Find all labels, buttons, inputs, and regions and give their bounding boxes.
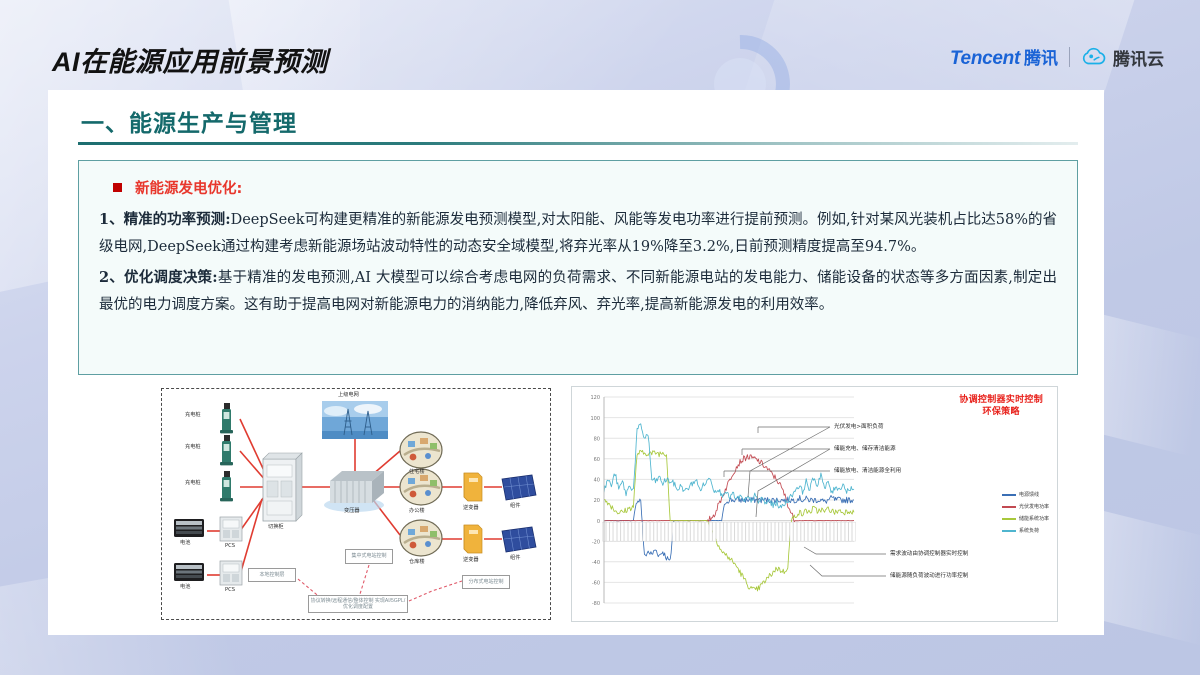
annotation-2: 储能充电、储存清洁能源: [834, 444, 896, 452]
paragraph-1: 1、精准的功率预测:DeepSeek可构建更精准的新能源发电预测模型,对太阳能、…: [99, 206, 1057, 262]
annotation-4: 需求波动由协调控制器实时控制: [890, 549, 968, 557]
upper-grid-photo: [322, 401, 388, 439]
battery-rack-group: [174, 519, 204, 581]
bullet-heading-label: 新能源发电优化:: [135, 177, 242, 198]
annotation-1: 光伏发电>面积负荷: [834, 422, 883, 430]
section-heading: 一、能源生产与管理: [81, 104, 297, 138]
building-map-group: [400, 432, 442, 556]
tencent-cloud-logo: 腾讯云: [1081, 45, 1164, 70]
content-card: 一、能源生产与管理 新能源发电优化: 1、精准的功率预测:DeepSeek可构建…: [48, 90, 1104, 635]
legend-swatch: [1002, 518, 1016, 520]
inverter-group: [464, 473, 482, 553]
svg-text:120: 120: [590, 395, 600, 401]
paragraph-2: 2、优化调度决策:基于精准的发电预测,AI 大模型可以综合考虑电网的负荷需求、不…: [99, 264, 1057, 320]
paragraph-2-lead: 优化调度决策:: [124, 269, 218, 286]
label-switchgear: 切换柜: [268, 523, 284, 530]
legend-label: 光伏发电功率: [1019, 503, 1049, 510]
label-inverter-1: 逆变器: [463, 504, 479, 511]
svg-text:0: 0: [597, 519, 600, 525]
legend-item: 电源馈线: [1002, 491, 1049, 498]
tencent-logo-en: Tencent: [950, 48, 1020, 70]
chart-legend: 电源馈线光伏发电功率储能系统功率系统负荷: [1002, 491, 1049, 539]
svg-text:-40: -40: [592, 560, 600, 566]
legend-label: 储能系统功率: [1019, 515, 1049, 522]
tencent-cloud-label: 腾讯云: [1113, 45, 1164, 70]
legend-label: 电源馈线: [1019, 491, 1039, 498]
tencent-logo: Tencent 腾讯: [950, 44, 1058, 70]
slide-root: AI在能源应用前景预测 Tencent 腾讯 腾讯云 一、能源生产与管理: [0, 0, 1200, 675]
paragraph-1-number: 1、: [99, 211, 124, 228]
svg-text:80: 80: [594, 436, 600, 442]
section-underline: [78, 142, 1078, 145]
chart-plot-area: 120100806040200-20-40-60-80: [572, 387, 1057, 621]
chart-title-line-2: 环保策略: [959, 405, 1043, 417]
label-battery-1: 电池: [180, 539, 190, 546]
cloud-icon: [1081, 47, 1107, 67]
label-pcs-1: PCS: [225, 543, 235, 549]
transformer-container: [324, 471, 384, 512]
box-protocol-conversion: 协议转换/远程通信/整体控制 实现AI/5GPL/优化调度配置: [308, 595, 408, 613]
box-centralized-control: 集中式电站控制: [345, 549, 393, 564]
highlight-textbox: 新能源发电优化: 1、精准的功率预测:DeepSeek可构建更精准的新能源发电预…: [78, 160, 1078, 375]
chart-title: 协调控制器实时控制 环保策略: [959, 393, 1043, 417]
tencent-logo-cn: 腾讯: [1024, 44, 1058, 69]
charging-pile-group: [220, 403, 233, 501]
chart-title-line-1: 协调控制器实时控制: [959, 393, 1043, 405]
svg-text:40: 40: [594, 478, 600, 484]
paragraph-1-lead: 精准的功率预测:: [124, 211, 231, 228]
svg-text:-80: -80: [592, 601, 600, 607]
label-pv-panel-1: 组件: [510, 502, 520, 509]
legend-item: 储能系统功率: [1002, 515, 1049, 522]
svg-text:60: 60: [594, 457, 600, 463]
bullet-heading-row: 新能源发电优化:: [113, 177, 1057, 198]
legend-swatch: [1002, 530, 1016, 532]
brand-logo-group: Tencent 腾讯 腾讯云: [950, 44, 1164, 70]
label-charging-pile-2: 充电桩: [185, 443, 201, 450]
box-distributed-control: 分布式电站控制: [462, 575, 510, 589]
pv-panel-group: [502, 475, 536, 552]
legend-swatch: [1002, 494, 1016, 496]
legend-swatch: [1002, 506, 1016, 508]
svg-text:-60: -60: [592, 581, 600, 587]
legend-item: 光伏发电功率: [1002, 503, 1049, 510]
pcs-cabinet-group: [220, 517, 242, 585]
svg-text:-20: -20: [592, 539, 600, 545]
label-inverter-2: 逆变器: [463, 556, 479, 563]
paragraph-1-body: DeepSeek可构建更精准的新能源发电预测模型,对太阳能、风能等发电功率进行提…: [99, 212, 1057, 255]
logo-divider: [1069, 47, 1070, 67]
legend-label: 系统负荷: [1019, 527, 1039, 534]
label-transformer: 变压器: [344, 507, 360, 514]
label-battery-2: 电池: [180, 583, 190, 590]
label-pv-panel-2: 组件: [510, 554, 520, 561]
label-office-building: 办公楼: [409, 507, 425, 514]
svg-text:100: 100: [590, 416, 600, 422]
annotation-3: 储能放电、清洁能源全利用: [834, 466, 901, 474]
label-warehouse-building: 仓库楼: [409, 558, 425, 565]
microgrid-topology-figure: 充电桩 充电桩 充电桩 电池 电池 PCS PCS 切换柜 上级电网 变压器 住…: [161, 388, 551, 620]
page-title: AI在能源应用前景预测: [52, 40, 328, 79]
label-upper-grid: 上级电网: [338, 391, 359, 398]
label-charging-pile-3: 充电桩: [185, 479, 201, 486]
box-local-control: 本地控制层: [248, 568, 296, 582]
annotation-5: 储能源随负荷波动进行功率控制: [890, 571, 968, 579]
slide-header: AI在能源应用前景预测 Tencent 腾讯 腾讯云: [0, 0, 1200, 96]
legend-item: 系统负荷: [1002, 527, 1049, 534]
svg-text:20: 20: [594, 498, 600, 504]
paragraph-2-body: 基于精准的发电预测,AI 大模型可以综合考虑电网的负荷需求、不同新能源电站的发电…: [99, 270, 1057, 313]
label-charging-pile-1: 充电桩: [185, 411, 201, 418]
label-dorm-building: 住宅楼: [409, 468, 425, 475]
control-strategy-chart-figure: 协调控制器实时控制 环保策略 120100806040200-20-40-60-…: [571, 386, 1058, 622]
paragraph-2-number: 2、: [99, 269, 124, 286]
label-pcs-2: PCS: [225, 587, 235, 593]
square-bullet-icon: [113, 183, 122, 192]
switchgear-cabinet: [263, 453, 302, 521]
